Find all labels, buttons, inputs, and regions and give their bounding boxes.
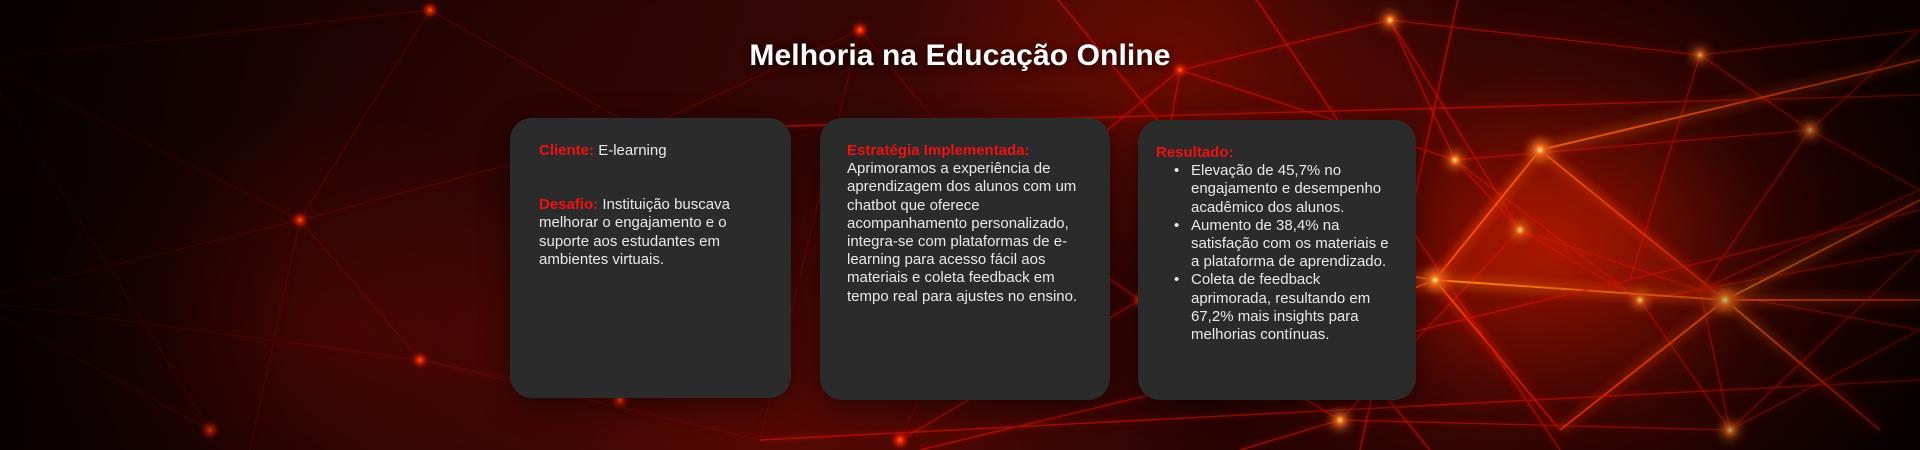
card-strategy: Estratégia Implementada: Aprimoramos a e… [820,118,1110,400]
client-label: Cliente: [539,142,594,159]
client-line: Cliente: E-learning [539,142,765,160]
strategy-body: Aprimoramos a experiência de aprendizage… [847,160,1077,304]
result-bullet-list: Elevação de 45,7% no engajamento e desem… [1156,162,1396,344]
strategy-block: Estratégia Implementada: Aprimoramos a e… [847,142,1088,306]
client-value: E-learning [598,142,666,159]
page-title: Melhoria na Educação Online [0,39,1920,73]
result-bullet-item: Aumento de 38,4% na satisfação com os ma… [1156,217,1396,272]
card-client-spacer [539,160,765,196]
result-bullet-item: Elevação de 45,7% no engajamento e desem… [1156,162,1396,217]
challenge-label: Desafio: [539,196,598,213]
result-label: Resultado: [1156,144,1234,161]
strategy-label: Estratégia Implementada: [847,142,1030,159]
content-overlay: Melhoria na Educação Online Cliente: E-l… [0,0,1920,450]
challenge-line: Desafio: Instituição buscava melhorar o … [539,196,765,269]
result-bullet-item: Coleta de feedback aprimorada, resultand… [1156,271,1396,344]
card-result: Resultado: Elevação de 45,7% no engajame… [1138,120,1416,400]
card-client-challenge: Cliente: E-learning Desafio: Instituição… [510,118,791,398]
result-heading: Resultado: [1156,144,1396,162]
